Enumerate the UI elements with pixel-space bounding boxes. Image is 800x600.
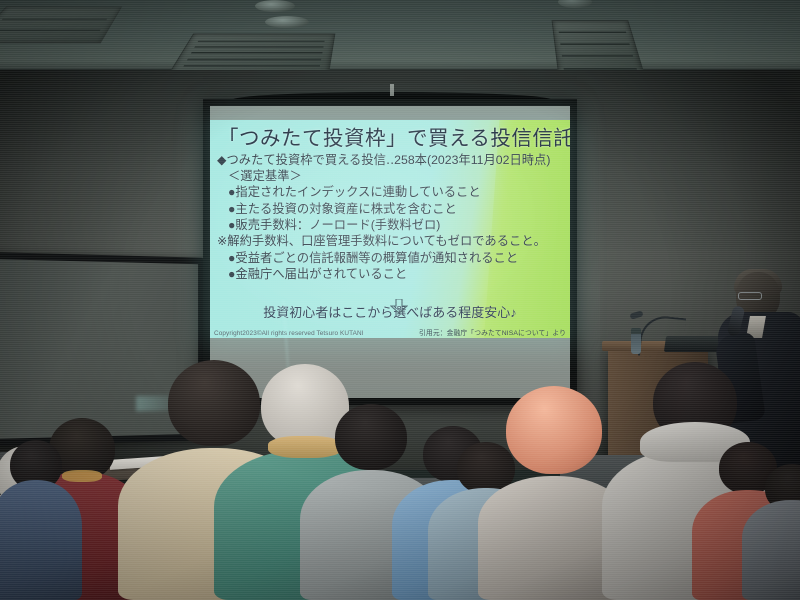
- slide-bullet-2: ●主たる投資の対象資産に株式を含むこと: [217, 201, 563, 217]
- projected-slide: 「つみたて投資枠」で買える投信信託 ◆つみたて投資枠で買える投信‥258本(20…: [210, 120, 570, 338]
- audience: [0, 350, 800, 600]
- slide-bullet-3: ●販売手数料：ノーロード(手数料ゼロ): [217, 217, 563, 233]
- slide-title: 「つみたて投資枠」で買える投信信託: [218, 128, 563, 150]
- attendee-denim-jacket: [0, 428, 82, 600]
- slide-citation: 引用元：金融庁「つみたてNISAについて」より: [419, 327, 566, 337]
- slide-criteria-heading: ＜選定基準＞: [217, 168, 563, 184]
- ceiling-light-b: [265, 16, 309, 28]
- slide-note-line: ※解約手数料、口座管理手数料についてもゼロであること。: [217, 233, 563, 249]
- torso: [0, 480, 82, 600]
- seminar-room-photo: 「つみたて投資枠」で買える投信信託 ◆つみたて投資枠で買える投信‥258本(20…: [0, 0, 800, 600]
- ceiling-vent-far-left: [0, 7, 122, 44]
- torso: [742, 500, 800, 600]
- slide-copyright: Copyright2023©All rights reserved Tetsur…: [214, 330, 364, 337]
- ceiling: [0, 0, 800, 78]
- slide-bullet-4: ●受益者ごとの信託報酬等の概算値が通知されること: [217, 250, 563, 266]
- slide-lead-line: ◆つみたて投資枠で買える投信‥258本(2023年11月02日時点): [217, 152, 563, 168]
- glasses-icon: [738, 292, 762, 300]
- slide-bullet-5: ●金融庁へ届出がされていること: [217, 266, 563, 282]
- down-arrow-wrap: [217, 286, 563, 301]
- attendee-back-right: [742, 450, 800, 600]
- slide-bullet-1: ●指定されたインデックスに連動していること: [217, 184, 563, 200]
- ceiling-light-a: [255, 0, 295, 12]
- head: [506, 386, 602, 474]
